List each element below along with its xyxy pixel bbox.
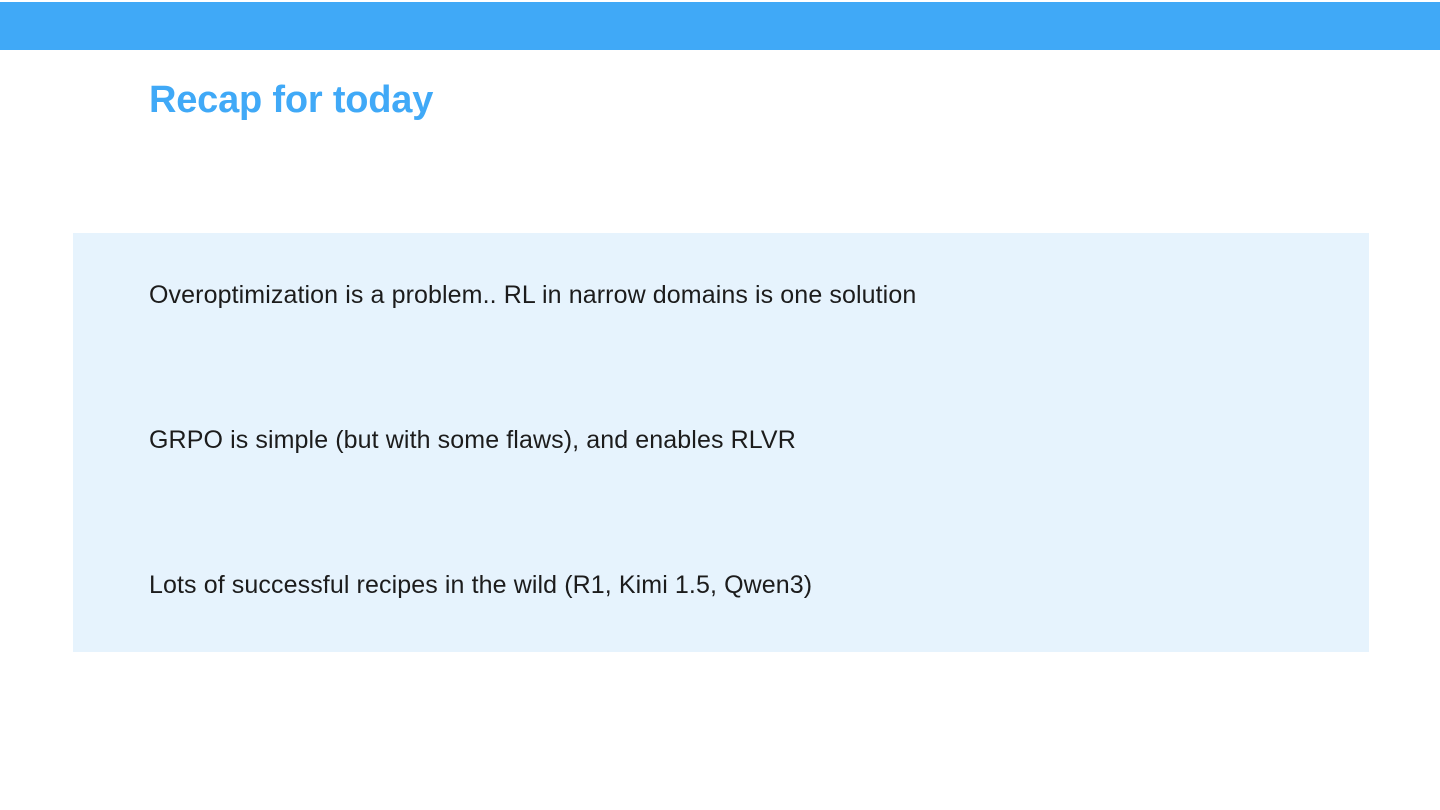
presentation-slide: Recap for today Overoptimization is a pr… [0, 0, 1440, 810]
list-item: Lots of successful recipes in the wild (… [149, 568, 1339, 602]
list-item: GRPO is simple (but with some flaws), an… [149, 423, 1339, 457]
content-panel: Overoptimization is a problem.. RL in na… [73, 233, 1369, 652]
list-item: Overoptimization is a problem.. RL in na… [149, 278, 1339, 312]
page-title: Recap for today [149, 76, 433, 124]
top-accent-bar [0, 2, 1440, 50]
bullet-list: Overoptimization is a problem.. RL in na… [149, 278, 1339, 602]
